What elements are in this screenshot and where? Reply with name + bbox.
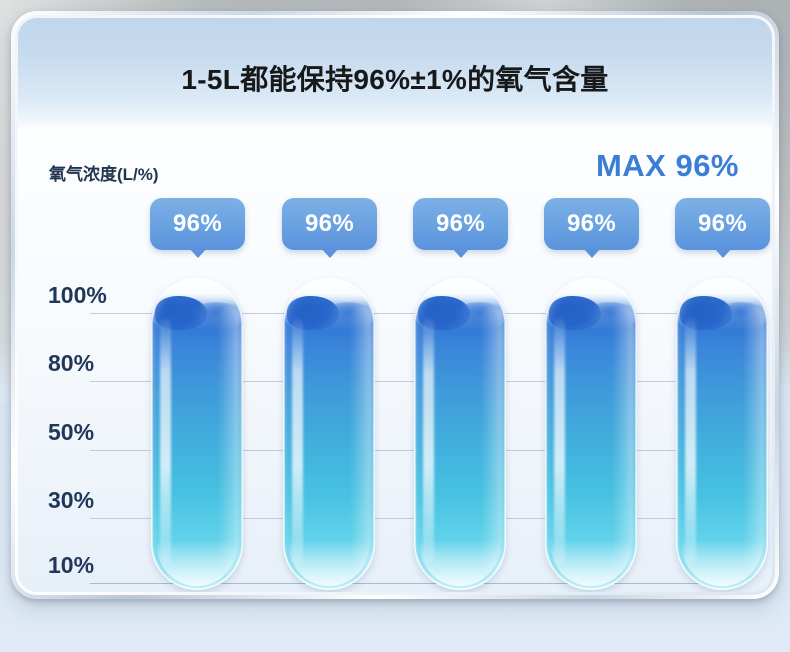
bar-3l: [414, 278, 506, 590]
callout-tail-icon: [583, 248, 601, 258]
data-label-callout-4l: 96%: [544, 198, 639, 250]
page-title: 1-5L都能保持96%±1%的氧气含量: [18, 58, 772, 98]
x-axis-tick-label: 5L: [676, 591, 768, 592]
data-label-callout-3l: 96%: [413, 198, 508, 250]
data-label-value: 96%: [305, 212, 354, 236]
bar-rim-shading: [414, 278, 506, 590]
frame-inner-bevel: 1-5L都能保持96%±1%的氧气含量 氧气浓度(L/%) MAX 96% 10…: [15, 15, 775, 595]
bar-rim-shading: [545, 278, 637, 590]
chart-card: 1-5L都能保持96%±1%的氧气含量 氧气浓度(L/%) MAX 96% 10…: [18, 18, 772, 592]
plot-area: 100%80%50%30%10%96%1L96%2L96%3L96%4L96%5…: [18, 130, 772, 592]
callout-tail-icon: [452, 248, 470, 258]
x-axis-tick-label: 2L: [283, 591, 375, 592]
y-axis-tick-label: 100%: [48, 282, 136, 313]
bar-5l: [676, 278, 768, 590]
x-axis-tick-label: 3L: [414, 591, 506, 592]
y-axis-tick-label: 10%: [48, 552, 136, 583]
data-label-value: 96%: [567, 212, 616, 236]
callout-tail-icon: [714, 248, 732, 258]
data-label-callout-5l: 96%: [675, 198, 770, 250]
y-axis-tick-label: 30%: [48, 487, 136, 518]
callout-tail-icon: [321, 248, 339, 258]
x-axis-tick-label: 4L: [545, 591, 637, 592]
y-axis-tick-label: 80%: [48, 350, 136, 381]
header-band: 1-5L都能保持96%±1%的氧气含量: [18, 18, 772, 130]
data-label-callout-1l: 96%: [150, 198, 245, 250]
chart-body: 氧气浓度(L/%) MAX 96% 100%80%50%30%10%96%1L9…: [18, 130, 772, 592]
bar-rim-shading: [676, 278, 768, 590]
y-axis-tick-label: 50%: [48, 419, 136, 450]
bar-4l: [545, 278, 637, 590]
data-label-callout-2l: 96%: [282, 198, 377, 250]
x-axis-tick-label: 1L: [151, 591, 243, 592]
callout-tail-icon: [189, 248, 207, 258]
data-label-value: 96%: [173, 212, 222, 236]
bar-1l: [151, 278, 243, 590]
bar-rim-shading: [283, 278, 375, 590]
metallic-frame: 1-5L都能保持96%±1%的氧气含量 氧气浓度(L/%) MAX 96% 10…: [11, 11, 779, 599]
data-label-value: 96%: [436, 212, 485, 236]
bar-rim-shading: [151, 278, 243, 590]
bar-2l: [283, 278, 375, 590]
data-label-value: 96%: [698, 212, 747, 236]
